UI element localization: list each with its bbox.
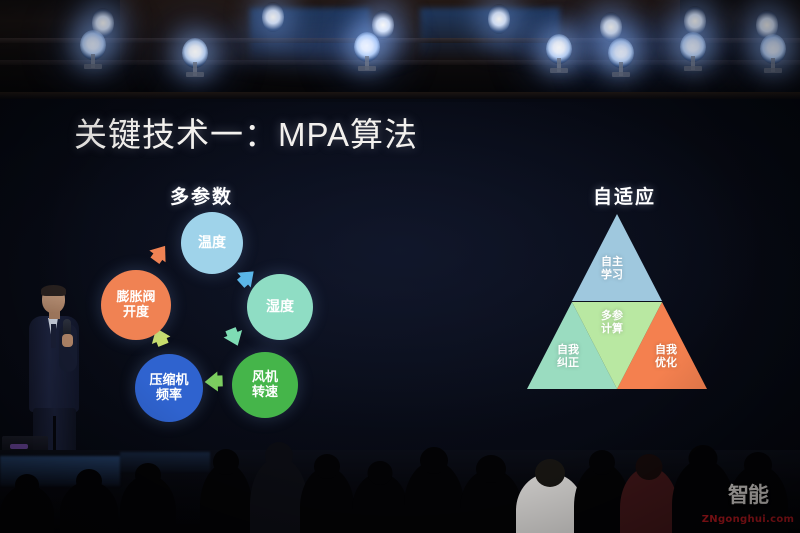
cycle-node-humidity: 湿度: [247, 274, 313, 340]
stage-photo: 关键技术一：MPA算法 多参数 自适应 温度湿度风机转速压缩机频率膨胀阀开度 自…: [0, 0, 800, 533]
light-base: [684, 66, 702, 71]
watermark-logo: 智能: [706, 478, 790, 514]
audience-head: [689, 445, 718, 472]
stage-ceiling: [0, 0, 800, 96]
stage-light-beam-4: [488, 4, 510, 34]
audience-member: [352, 473, 408, 533]
audience-member: [620, 467, 678, 533]
stage-light-beam-5: [600, 12, 622, 42]
audience-member: [460, 469, 522, 533]
cycle-node-expansion-valve: 膨胀阀开度: [101, 270, 171, 340]
slide-title: 关键技术一：MPA算法: [74, 108, 418, 156]
audience-member: [200, 463, 252, 533]
stage-front-and-audience: [0, 450, 800, 533]
arrow-shaft: [212, 375, 222, 386]
audience-head: [213, 449, 239, 475]
label-line-2: 频率: [149, 388, 188, 403]
label-line-2: 开度: [116, 305, 155, 320]
presenter-hand: [62, 334, 73, 347]
stage-haze-left: [180, 10, 440, 80]
stage-blue-panel-mid: [120, 452, 210, 472]
audience-member: [120, 475, 176, 533]
stage-light-fixture-2: [178, 34, 212, 74]
cycle-node-temperature: 温度: [181, 212, 243, 274]
light-base: [358, 66, 376, 71]
section-header-multi-parameter: 多参数: [170, 182, 233, 209]
audience-head: [744, 452, 772, 478]
triangle-label-self-correction: 自我纠正: [557, 344, 579, 370]
label-line-2: 纠正: [557, 357, 579, 370]
section-header-self-adaptive: 自适应: [593, 182, 656, 209]
cycle-node-label: 膨胀阀开度: [116, 290, 155, 319]
stage-light-beam-3: [372, 10, 394, 40]
audience-member: [300, 467, 354, 533]
triangle-label-self-learning: 自主学习: [601, 256, 623, 282]
presentation-screen: 关键技术一：MPA算法 多参数 自适应 温度湿度风机转速压缩机频率膨胀阀开度 自…: [0, 92, 800, 452]
audience-head: [636, 454, 663, 480]
adaptive-triangle-diagram: 自主学习多参计算自我纠正自我优化: [527, 214, 707, 389]
stage-light-beam-1: [92, 8, 114, 38]
stage-light-beam-2: [262, 2, 284, 32]
cycle-node-label: 风机转速: [252, 370, 278, 399]
label-line-2: 学习: [601, 269, 623, 282]
cycle-node-label: 温度: [198, 235, 226, 251]
audience-member: [404, 461, 464, 533]
monitor-led: [10, 444, 28, 449]
light-base: [612, 72, 630, 77]
audience-head: [535, 459, 565, 487]
triangle-label-self-optimization: 自我优化: [655, 344, 677, 370]
label-line-1: 自我: [557, 344, 579, 357]
audience-head: [420, 447, 448, 474]
audience-head: [368, 461, 393, 485]
audience-head: [265, 442, 293, 470]
audience-head: [15, 474, 39, 496]
screen-top-edge: [0, 92, 800, 99]
audience-head: [135, 463, 161, 487]
audience-head: [76, 469, 102, 493]
label-line-2: 计算: [601, 323, 623, 336]
label-line-1: 自主: [601, 256, 623, 269]
audience-member: [0, 485, 54, 533]
watermark-domain: ZNgonghui.com: [700, 514, 796, 525]
cycle-node-label: 湿度: [266, 299, 294, 315]
watermark: 智能 ZNgonghui.com: [700, 478, 796, 528]
multi-parameter-cycle-diagram: 温度湿度风机转速压缩机频率膨胀阀开度: [95, 212, 365, 442]
cycle-node-label: 压缩机频率: [149, 373, 188, 402]
label-line-1: 压缩机: [149, 373, 188, 388]
label-line-2: 转速: [252, 385, 278, 400]
presenter-hair: [41, 285, 66, 296]
stage-light-fixture-4: [542, 30, 576, 70]
label-line-1: 自我: [655, 344, 677, 357]
audience-head: [476, 455, 506, 483]
light-base: [764, 68, 782, 73]
presenter-tie: [51, 324, 56, 348]
light-base: [186, 72, 204, 77]
label-line-2: 优化: [655, 357, 677, 370]
stage-light-beam-6: [684, 6, 706, 36]
light-base: [550, 68, 568, 73]
label-line-1: 风机: [252, 370, 278, 385]
label-line-1: 多参: [601, 310, 623, 323]
stage-light-beam-7: [756, 10, 778, 40]
triangle-label-multi-parameter-calculation: 多参计算: [601, 310, 623, 336]
label-line-1: 膨胀阀: [116, 290, 155, 305]
cycle-node-fan-speed: 风机转速: [232, 352, 298, 418]
audience-head: [314, 454, 340, 479]
audience-member: [60, 481, 118, 533]
audience-head: [589, 450, 615, 475]
light-base: [84, 64, 102, 69]
cycle-node-compressor-frequency: 压缩机频率: [135, 354, 203, 422]
